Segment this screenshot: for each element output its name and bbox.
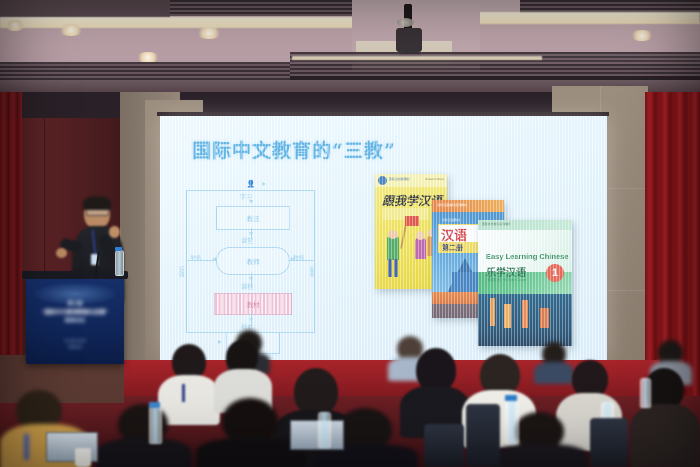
yellow-book-kid-1-body [387, 236, 399, 260]
label-right-outer: 反思 [307, 266, 315, 277]
audience-laptop-2[interactable] [286, 420, 344, 454]
projector-lens [397, 18, 414, 27]
water-bottle-1-cap [149, 402, 160, 408]
yellow-book-kid-1-leg-l [388, 259, 392, 277]
label-curriculum: 课程 [241, 282, 253, 291]
blue-book-caption: 对外汉语教材 [442, 218, 460, 222]
yellow-book-kid-1-head [388, 230, 398, 239]
arrow-learner-to-method [249, 200, 253, 204]
green-book-tower-1 [490, 298, 495, 326]
paper-cup-1 [75, 448, 91, 467]
green-book-title-en: Easy Learning Chinese [486, 252, 569, 261]
label-left-outer: 实践 [177, 266, 185, 277]
water-bottle-2 [318, 412, 331, 448]
green-book-subtitle: 基础篇·第一册 Basic Course [487, 277, 527, 282]
cove-light-left [0, 17, 360, 28]
arrow-teacher-down [249, 277, 253, 281]
chair-2 [424, 424, 464, 467]
water-bottle-1 [149, 406, 162, 444]
chair-1 [466, 404, 500, 467]
ceiling-recess-left [0, 0, 170, 18]
speaker-water-bottle [115, 250, 124, 276]
water-bottle-5 [640, 378, 651, 408]
yellow-book-subtitle-en: Student's Book [425, 177, 444, 181]
loop-line-top [186, 190, 315, 191]
node-teaching-method: 教法 [216, 206, 290, 230]
yellow-book-flag [405, 216, 419, 226]
blue-book-header-text: 对外汉语本科系列教材 [437, 203, 467, 207]
node-material: 教材 [214, 293, 292, 315]
loop-line-right [314, 190, 315, 332]
green-book-tower-2 [504, 304, 511, 328]
podium-line3: 教育论坛 [26, 317, 124, 324]
learner-top-icon: 👤 [242, 181, 260, 189]
blue-book-temple-base [452, 272, 478, 292]
podium-line2: “国际中文教育数智化发展” [26, 308, 124, 316]
speaker-hand-right [109, 226, 120, 238]
arrow-top-right [262, 182, 266, 186]
yellow-book-publisher: 国家汉办规划教材 [389, 177, 410, 181]
downlight-3 [196, 27, 222, 39]
audience-member-front-2 [96, 404, 192, 467]
downlight-5 [630, 30, 654, 41]
loop-line-left [186, 190, 187, 332]
downlight-2 [58, 24, 84, 36]
podium: 第三届 “国际中文教育数智化发展” 教育论坛 2024年7月6日 中国·杭州 [26, 276, 124, 364]
yellow-book-kid-2-body [415, 238, 426, 259]
water-bottle-3-cap [505, 395, 517, 401]
projection-screen: 国际中文教育的“三教” 👤 学习 教法 课堂 教师 学情 教 [160, 116, 607, 360]
label-classroom: 课堂 [241, 236, 253, 245]
label-right-inner: 教情 [293, 254, 304, 262]
arrow-teacher-left [212, 257, 216, 261]
water-bottle-3 [505, 400, 519, 444]
speaker-glasses [86, 209, 109, 216]
conference-photo: 国际中文教育的“三教” 👤 学习 教法 课堂 教师 学情 教 [0, 0, 700, 467]
yellow-book-kid-1-leg-r [394, 259, 398, 277]
book-cover-green: 国际中文教育系列教材 Easy Learning Chinese 乐学汉语 基础… [478, 220, 572, 346]
blue-book-volume: 第二册 [442, 243, 463, 253]
green-book-tower-4 [540, 308, 549, 328]
ceiling-strip-light [292, 56, 542, 60]
ceiling-slat-band-left [0, 62, 290, 82]
podium-top-surface [22, 271, 128, 279]
podium-line4: 2024年7月6日 [26, 338, 124, 343]
label-left-inner: 学情 [190, 254, 201, 262]
downlight-1 [4, 20, 26, 31]
projector-body [396, 28, 422, 52]
node-teacher: 教师 [216, 247, 290, 275]
speaker-bottle-cap [115, 247, 122, 251]
green-book-header-text: 国际中文教育系列教材 [482, 222, 510, 226]
podium-line1: 第三届 [26, 300, 124, 307]
cove-light-right [470, 12, 700, 24]
yellow-book-logo [378, 176, 387, 185]
podium-line5: 中国·杭州 [26, 344, 124, 349]
yellow-book-kid-2-head [416, 231, 425, 240]
green-book-volume-badge: 1 [546, 264, 564, 282]
chair-3 [590, 418, 628, 467]
speaker-hair [83, 196, 111, 210]
speaker-hand-left [56, 248, 67, 258]
slide-flowchart: 👤 学习 教法 课堂 教师 学情 教情 课程 教材 校本 [160, 116, 390, 360]
green-book-tower-3 [522, 300, 528, 328]
